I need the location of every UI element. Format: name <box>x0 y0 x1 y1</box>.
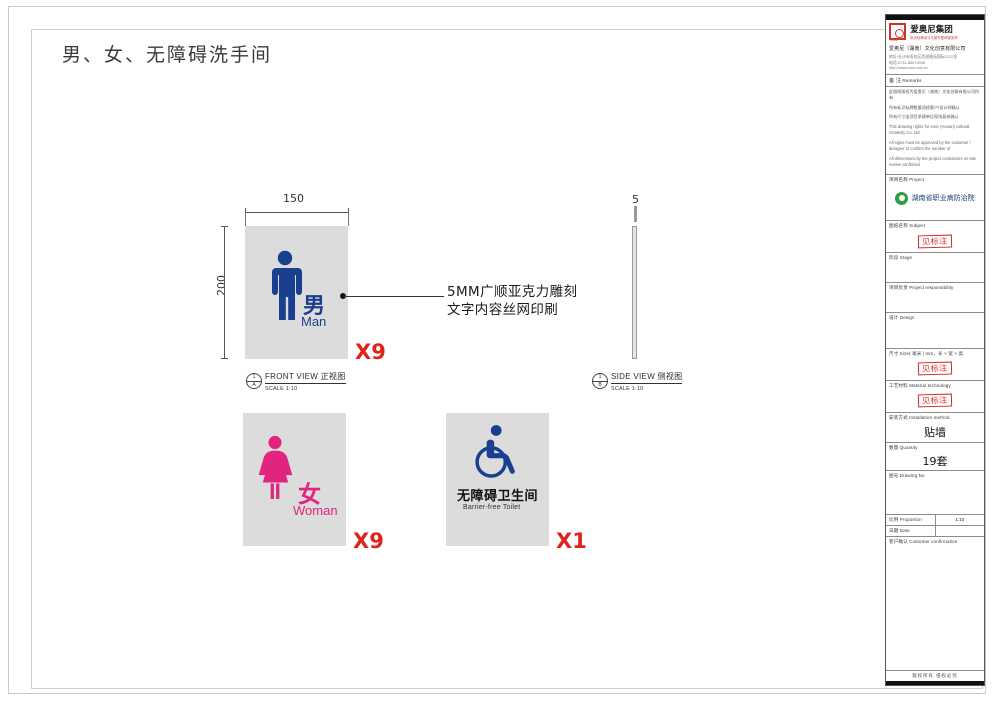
subject-stamp: 见标注 <box>918 234 952 248</box>
extension-line <box>634 206 637 222</box>
dimension-height-text: 200 <box>215 275 228 296</box>
sheet-outer-border <box>8 6 986 694</box>
view-name-side: SIDE VIEW 侧视图 <box>611 371 682 384</box>
row-subject: 图纸名称 Subject 见标注 <box>886 221 984 253</box>
row-design: 设计 Design <box>886 313 984 349</box>
row-label-en-subject: Subject <box>909 223 925 228</box>
remark-cn-2: 所有标识标牌数量须经客户/设计师确认 <box>889 105 981 111</box>
copyright-notice: 版权所有 侵权必究 <box>886 670 984 681</box>
row-label-en-size: Size( 毫米 | mm，长 × 宽 × 高 <box>900 351 963 356</box>
remarks-label-en: Remarks <box>902 78 921 83</box>
wheelchair-pictogram-icon <box>468 423 526 481</box>
sign-label-cn-accessible: 无障碍卫生间 <box>457 485 538 504</box>
dimension-tick <box>221 226 228 227</box>
proportion-value: 1:10 <box>936 515 985 525</box>
row-drawing-no: 图号 Drawing No <box>886 471 984 515</box>
row-label-en-date: Date <box>900 528 910 533</box>
dimension-width-line <box>245 212 348 213</box>
view-label-front: 1 A FRONT VIEW 正视图 SCALE 1:10 <box>246 371 346 392</box>
sign-panel-accessible: 无障碍卫生间 Barrier-free Toilet <box>446 413 549 546</box>
view-scale-front: SCALE 1:10 <box>265 386 346 392</box>
view-bubble-icon: 1 B <box>592 373 608 389</box>
extension-line <box>348 212 349 226</box>
title-block-bottom-bar <box>886 681 984 685</box>
company-logo-tagline: 标识标牌设计与制作整体服务商 <box>910 35 957 40</box>
installation-value: 贴墙 <box>889 424 981 440</box>
extension-line <box>245 212 246 226</box>
row-installation: 安装方式 Installation method 贴墙 <box>886 413 984 443</box>
title-block: 爱奥尼集团 标识标牌设计与制作整体服务商 IONIC 爱奥尼（湖南）文化创意有限… <box>885 14 985 686</box>
row-label-en-responsibility: Project responsibility <box>909 285 953 290</box>
quantity-accessible: X1 <box>556 529 587 553</box>
row-label-design: 设计 <box>889 315 898 320</box>
row-label-en-drawing-no: Drawing No <box>900 473 925 478</box>
page-title: 男、女、无障碍洗手间 <box>62 40 272 67</box>
quantity-men: X9 <box>355 340 386 364</box>
row-label-installation: 安装方式 <box>889 415 908 420</box>
row-project-responsibility: 项目负责 Project responsibility <box>886 283 984 313</box>
row-label-en-project: Project <box>909 177 924 182</box>
row-date: 日期 Date <box>886 526 984 537</box>
row-customer-confirmation: 客户确认 Customer confirmation <box>886 537 984 579</box>
view-number: 1 <box>247 374 261 380</box>
sign-panel-side-view <box>632 226 637 359</box>
remark-en-3: All dimensions by the project contractor… <box>889 156 981 168</box>
remark-en-1: This drawing rights for Ionic (Hunan) cu… <box>889 124 981 136</box>
row-label-en-material: Material technology <box>909 383 951 388</box>
quantity-value: 19套 <box>889 453 981 469</box>
row-label-quantity: 数量 <box>889 445 898 450</box>
dimension-width-text: 150 <box>283 192 304 205</box>
company-info: 爱奥尼集团 标识标牌设计与制作整体服务商 IONIC 爱奥尼（湖南）文化创意有限… <box>886 20 984 75</box>
row-label-stage: 阶段 <box>889 255 898 260</box>
callout-note: 5MM广顺亚克力雕刻 文字内容丝网印刷 <box>447 283 577 319</box>
view-letter: A <box>247 382 261 388</box>
remark-cn-1: 此图纸版权为爱奥尼（湖南）文化创意有限公司所有 <box>889 89 981 101</box>
size-stamp: 见标注 <box>918 361 952 375</box>
row-label-project: 项目名称 <box>889 177 908 182</box>
remark-en-2: All signs must be approved by the custom… <box>889 140 981 152</box>
view-number: 1 <box>593 374 607 380</box>
dimension-tick <box>221 358 228 359</box>
hospital-logo-icon <box>895 192 908 205</box>
sign-panel-women: 女 Woman <box>243 413 346 546</box>
row-label-en-proportion: Proportion <box>900 517 922 522</box>
remarks-body: 此图纸版权为爱奥尼（湖南）文化创意有限公司所有 所有标识标牌数量须经客户/设计师… <box>886 87 984 175</box>
date-value <box>936 526 985 536</box>
row-label-date: 日期 <box>889 528 898 533</box>
view-name-front: FRONT VIEW 正视图 <box>265 371 346 384</box>
title-block-footer: 版权所有 侵权必究 <box>886 670 984 685</box>
row-project: 项目名称 Project 湖南省职业病防治院 <box>886 175 984 221</box>
remark-cn-3: 所有尺寸由项目承建单位现场复核确认 <box>889 114 981 120</box>
remarks-header: 备 注 Remarks <box>886 75 984 87</box>
row-stage: 阶段 Stage <box>886 253 984 283</box>
project-name: 湖南省职业病防治院 <box>912 194 975 202</box>
sign-panel-men: 男 Man <box>245 226 348 359</box>
remarks-label: 备 注 <box>889 78 901 84</box>
row-label-en-stage: Stage <box>900 255 913 260</box>
view-label-side: 1 B SIDE VIEW 侧视图 SCALE 1:10 <box>592 371 682 392</box>
row-label-material: 工艺材料 <box>889 383 908 388</box>
dimension-thickness-text: 5 <box>632 193 639 206</box>
quantity-women: X9 <box>353 529 384 553</box>
row-material: 工艺材料 Material technology 见标注 <box>886 381 984 413</box>
row-label-en-quantity: Quantity <box>900 445 918 450</box>
row-label-subject: 图纸名称 <box>889 223 908 228</box>
man-pictogram-icon <box>263 250 307 320</box>
row-label-en-design: Design <box>900 315 915 320</box>
view-bubble-icon: 1 A <box>246 373 262 389</box>
row-label-en-installation: Installation method <box>909 415 949 420</box>
view-letter: B <box>593 382 607 388</box>
material-stamp: 见标注 <box>918 393 952 407</box>
sheet-inner-border <box>31 29 983 689</box>
sign-label-en-women: Woman <box>293 503 338 518</box>
row-label-en-confirmation: Customer confirmation <box>909 539 957 544</box>
row-label-responsibility: 项目负责 <box>889 285 908 290</box>
company-website: http://www.ionic.net.cn <box>889 65 981 71</box>
row-label-drawing-no: 图号 <box>889 473 898 478</box>
company-name-cn: 爱奥尼（湖南）文化创意有限公司 <box>889 45 981 52</box>
view-scale-side: SCALE 1:10 <box>611 386 682 392</box>
row-proportion: 比例 Proportion 1:10 <box>886 515 984 526</box>
row-size: 尺寸 Size( 毫米 | mm，长 × 宽 × 高 见标注 <box>886 349 984 381</box>
callout-leader-line <box>344 296 444 297</box>
dimension-height-line <box>224 226 225 359</box>
woman-pictogram-icon <box>255 435 295 499</box>
ionic-logo-icon <box>889 23 906 40</box>
row-label-confirmation: 客户确认 <box>889 539 908 544</box>
row-label-proportion: 比例 <box>889 517 898 522</box>
sign-label-en-men: Man <box>301 314 326 329</box>
company-logo-name: 爱奥尼集团 <box>910 23 957 35</box>
row-quantity: 数量 Quantity 19套 <box>886 443 984 471</box>
row-label-size: 尺寸 <box>889 351 898 356</box>
sign-label-en-accessible: Barrier-free Toilet <box>463 504 520 511</box>
